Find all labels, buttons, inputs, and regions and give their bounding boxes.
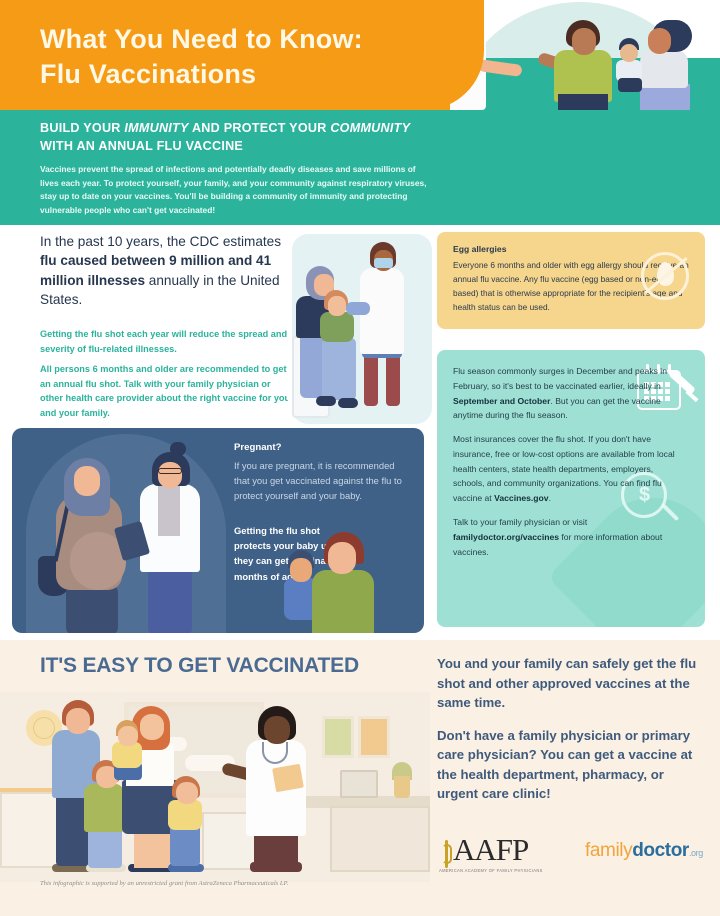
footnote: This infographic is supported by an unre… [40, 880, 470, 887]
season-p2-part1: Most insurances cover the flu shot. If y… [453, 434, 675, 503]
infographic-page: What You Need to Know: Flu Vaccinations … [0, 0, 720, 916]
child-shoe-right [338, 398, 358, 408]
egg-allergies-title: Egg allergies [453, 244, 507, 254]
page-title-line2: Flu Vaccinations [40, 57, 440, 92]
insurance-paragraph: Most insurances cover the flu shot. If y… [453, 432, 687, 506]
wall-frame-1 [322, 716, 354, 758]
page-title-line1: What You Need to Know: [40, 22, 440, 57]
flu-season-card: $ Flu season commonly surges in December… [437, 350, 705, 627]
pregnancy-body: If you are pregnant, it is recommended t… [234, 458, 409, 504]
clinic-doctor-folder [272, 764, 304, 792]
flu-season-text: Flu season commonly surges in December a… [453, 364, 687, 568]
flu-season-timing-paragraph: Flu season commonly surges in December a… [453, 364, 687, 423]
clinic-family-illustration [0, 692, 430, 882]
pregnancy-title: Pregnant? [234, 442, 281, 453]
clock-face [33, 717, 55, 739]
panel-doctor-shirt [158, 486, 180, 536]
familydoctor-link[interactable]: familydoctor.org/vaccines [453, 532, 559, 542]
flu-shot-benefit-text: Getting the flu shot each year will redu… [40, 327, 290, 356]
familydoctor-doctor-word: doctor [632, 840, 689, 861]
pregnancy-panel: Pregnant? If you are pregnant, it is rec… [12, 428, 424, 633]
mother-body [312, 570, 374, 633]
banner-heading-part3: WITH AN ANNUAL FLU VACCINE [40, 139, 243, 153]
familydoctor-org-suffix: .org [689, 848, 703, 858]
caduceus-snake [442, 844, 452, 864]
panel-doctor-glasses [158, 468, 182, 474]
bottom-mother-face [140, 714, 164, 740]
aafp-logo[interactable]: AAFP AMERICAN ACADEMY OF FAMILY PHYSICIA… [437, 832, 567, 876]
egg-allergies-card: Egg allergies Everyone 6 months and olde… [437, 232, 705, 329]
season-p1-part1: Flu season commonly surges in December a… [453, 366, 667, 391]
cdc-statistic-text: In the past 10 years, the CDC estimates … [40, 232, 290, 309]
father-face [66, 708, 90, 734]
nurse-mask [374, 258, 393, 268]
bottom-paragraph-1: You and your family can safely get the f… [437, 654, 705, 713]
cdc-stat-part1: In the past 10 years, the CDC estimates [40, 234, 281, 249]
toddler-top [168, 800, 202, 830]
nurse-glove [346, 302, 370, 315]
older-child-top [84, 784, 124, 832]
vaccines-gov-link[interactable]: Vaccines.gov [494, 493, 548, 503]
banner-heading-community: COMMUNITY [330, 121, 410, 135]
banner-heading-part2: AND PROTECT YOUR [189, 121, 331, 135]
man-face [572, 28, 596, 55]
baby-pants [618, 78, 642, 92]
logo-row: AAFP AMERICAN ACADEMY OF FAMILY PHYSICIA… [437, 830, 707, 880]
mother-legs [134, 830, 170, 868]
clinic-cabinet [0, 792, 60, 868]
header: What You Need to Know: Flu Vaccinations [0, 0, 720, 110]
desk-plant-pot [394, 776, 410, 798]
banner-heading-immunity: IMMUNITY [124, 121, 188, 135]
pregnant-woman-legs [66, 586, 118, 633]
child-top [320, 312, 354, 342]
desk-drawers [330, 806, 430, 872]
desk-laptop [340, 770, 378, 798]
bottom-title: IT'S EASY TO GET VACCINATED [40, 654, 430, 678]
no-egg-icon [641, 252, 689, 300]
baby-head [620, 44, 638, 62]
pregnant-woman-face [74, 466, 100, 496]
panel-baby-face [290, 558, 312, 582]
toddler-face [176, 782, 198, 804]
older-child-pants [88, 828, 122, 868]
banner-heading: BUILD YOUR IMMUNITY AND PROTECT YOUR COM… [40, 120, 430, 156]
familydoctor-family-word: family [585, 840, 632, 861]
child-legs [322, 338, 356, 400]
child-shoe-left [316, 396, 336, 406]
bottom-paragraph-2: Don't have a family physician or primary… [437, 726, 705, 804]
woman-face [648, 28, 671, 54]
wall-frame-2 [358, 716, 390, 758]
panel-doctor-face [158, 462, 182, 488]
mother-face [328, 542, 356, 574]
caduceus-icon [441, 836, 451, 864]
familydoctor-paragraph: Talk to your family physician or visit f… [453, 515, 687, 559]
cdc-statistic: In the past 10 years, the CDC estimates … [40, 232, 290, 309]
infant-face [118, 726, 138, 746]
season-p3-part1: Talk to your family physician or visit [453, 517, 587, 527]
clinic-doctor-face [264, 716, 290, 744]
familydoctor-logo[interactable]: familydoctor.org [585, 840, 703, 862]
vaccination-illustration [288, 228, 438, 424]
aafp-subtitle: AMERICAN ACADEMY OF FAMILY PHYSICIANS [439, 868, 543, 873]
season-p1-bold: September and October [453, 396, 550, 406]
bottom-copy: You and your family can safely get the f… [437, 654, 705, 817]
annual-flu-shot-recommendation-text: All persons 6 months and older are recom… [40, 362, 295, 421]
aafp-wordmark: AAFP [453, 832, 528, 868]
man-pants [558, 94, 608, 110]
season-p2-part2: . [549, 493, 551, 503]
child-face [328, 296, 346, 316]
banner-heading-part1: BUILD YOUR [40, 121, 124, 135]
banner-body: Vaccines prevent the spread of infection… [40, 163, 430, 217]
woman-top [640, 50, 688, 88]
page-title: What You Need to Know: Flu Vaccinations [40, 22, 440, 91]
